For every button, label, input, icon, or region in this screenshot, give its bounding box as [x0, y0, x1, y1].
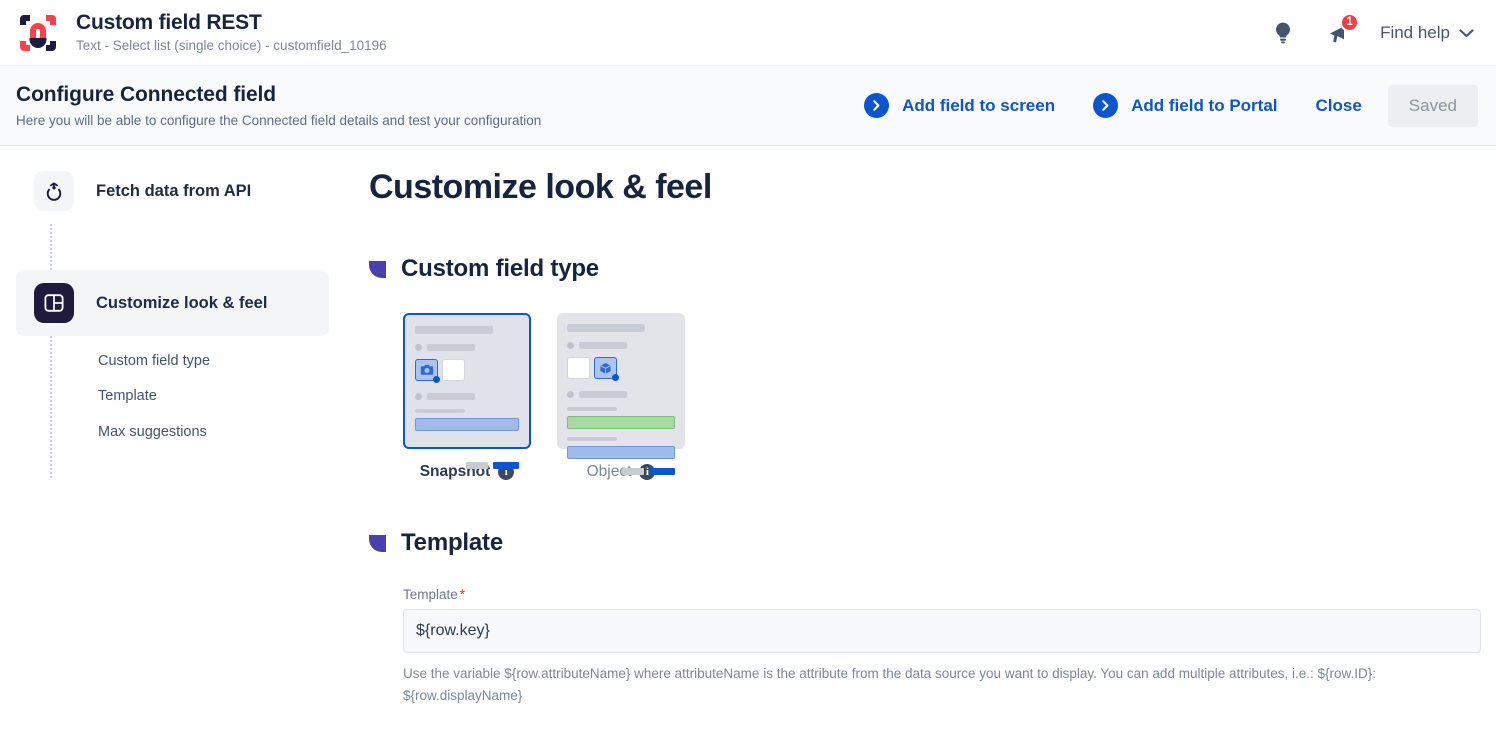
megaphone-icon[interactable]: 1	[1324, 18, 1354, 48]
section-marker-icon	[369, 261, 386, 278]
sidebar-item-label: Customize look & feel	[96, 294, 267, 313]
option-object: Object i	[557, 313, 685, 481]
app-header: Custom field REST Text - Select list (si…	[0, 0, 1496, 66]
page-body: Fetch data from API Customize look & fee…	[0, 146, 1496, 740]
sidebar-item-label: Fetch data from API	[96, 182, 251, 201]
api-fetch-icon	[34, 171, 74, 211]
add-field-to-portal-label: Add field to Portal	[1131, 96, 1277, 116]
sidebar-subitem-max-suggestions[interactable]: Max suggestions	[52, 415, 345, 450]
configure-subtitle: Here you will be able to configure the C…	[16, 113, 541, 128]
app-title: Custom field REST	[76, 11, 387, 35]
custom-field-rest-logo-icon	[16, 11, 60, 55]
configure-toolbar: Configure Connected field Here you will …	[0, 66, 1496, 146]
layout-panel-icon	[34, 283, 74, 323]
find-help-label: Find help	[1380, 23, 1450, 43]
snapshot-card[interactable]	[403, 313, 531, 449]
sidebar-item-fetch-data-from-api[interactable]: Fetch data from API	[16, 158, 329, 224]
close-button[interactable]: Close	[1316, 96, 1362, 116]
add-field-to-screen-button[interactable]: Add field to screen	[864, 93, 1055, 118]
configure-title: Configure Connected field	[16, 83, 541, 107]
saved-button[interactable]: Saved	[1388, 85, 1478, 127]
option-snapshot: Snapshot i	[403, 313, 531, 481]
page-title: Customize look & feel	[369, 168, 1480, 207]
sidebar: Fetch data from API Customize look & fee…	[0, 146, 345, 740]
lightbulb-icon[interactable]	[1268, 18, 1298, 48]
sidebar-item-customize-look-and-feel[interactable]: Customize look & feel	[16, 270, 329, 336]
snapshot-thumb-icon	[415, 359, 438, 381]
find-help-menu[interactable]: Find help	[1380, 23, 1474, 43]
main-content: Customize look & feel Custom field type	[345, 146, 1496, 740]
section-title: Custom field type	[401, 255, 599, 283]
configure-heading-block: Configure Connected field Here you will …	[16, 83, 541, 128]
notification-badge: 1	[1340, 13, 1359, 32]
brand: Custom field REST Text - Select list (si…	[16, 11, 387, 55]
add-field-to-portal-button[interactable]: Add field to Portal	[1093, 93, 1277, 118]
template-input[interactable]	[403, 609, 1481, 653]
section-marker-icon	[369, 535, 386, 552]
object-card[interactable]	[557, 313, 685, 449]
template-label-text: Template	[403, 587, 458, 602]
sidebar-subitem-template[interactable]: Template	[52, 379, 345, 414]
template-field-label: Template*	[403, 587, 1480, 602]
chevron-down-icon	[1459, 23, 1474, 43]
section-template-header: Template	[369, 529, 1480, 557]
sidebar-sub-items: Custom field type Template Max suggestio…	[50, 336, 345, 478]
template-help-text: Use the variable ${row.attributeName} wh…	[403, 663, 1433, 707]
sidebar-subitem-custom-field-type[interactable]: Custom field type	[52, 344, 345, 379]
section-title: Template	[401, 529, 503, 557]
header-actions: 1 Find help	[1268, 18, 1474, 48]
section-custom-field-type-header: Custom field type	[369, 255, 1480, 283]
add-field-to-screen-label: Add field to screen	[902, 96, 1055, 116]
toolbar-actions: Add field to screen Add field to Portal …	[864, 85, 1478, 127]
custom-field-type-options: Snapshot i	[403, 313, 1480, 481]
template-form: Template* Use the variable ${row.attribu…	[403, 587, 1480, 707]
required-marker: *	[460, 587, 465, 602]
object-cube-icon	[594, 357, 617, 379]
chevron-right-circle-icon	[864, 93, 889, 118]
sidebar-connector	[50, 224, 52, 270]
app-subtitle: Text - Select list (single choice) - cus…	[76, 38, 387, 54]
chevron-right-circle-icon	[1093, 93, 1118, 118]
